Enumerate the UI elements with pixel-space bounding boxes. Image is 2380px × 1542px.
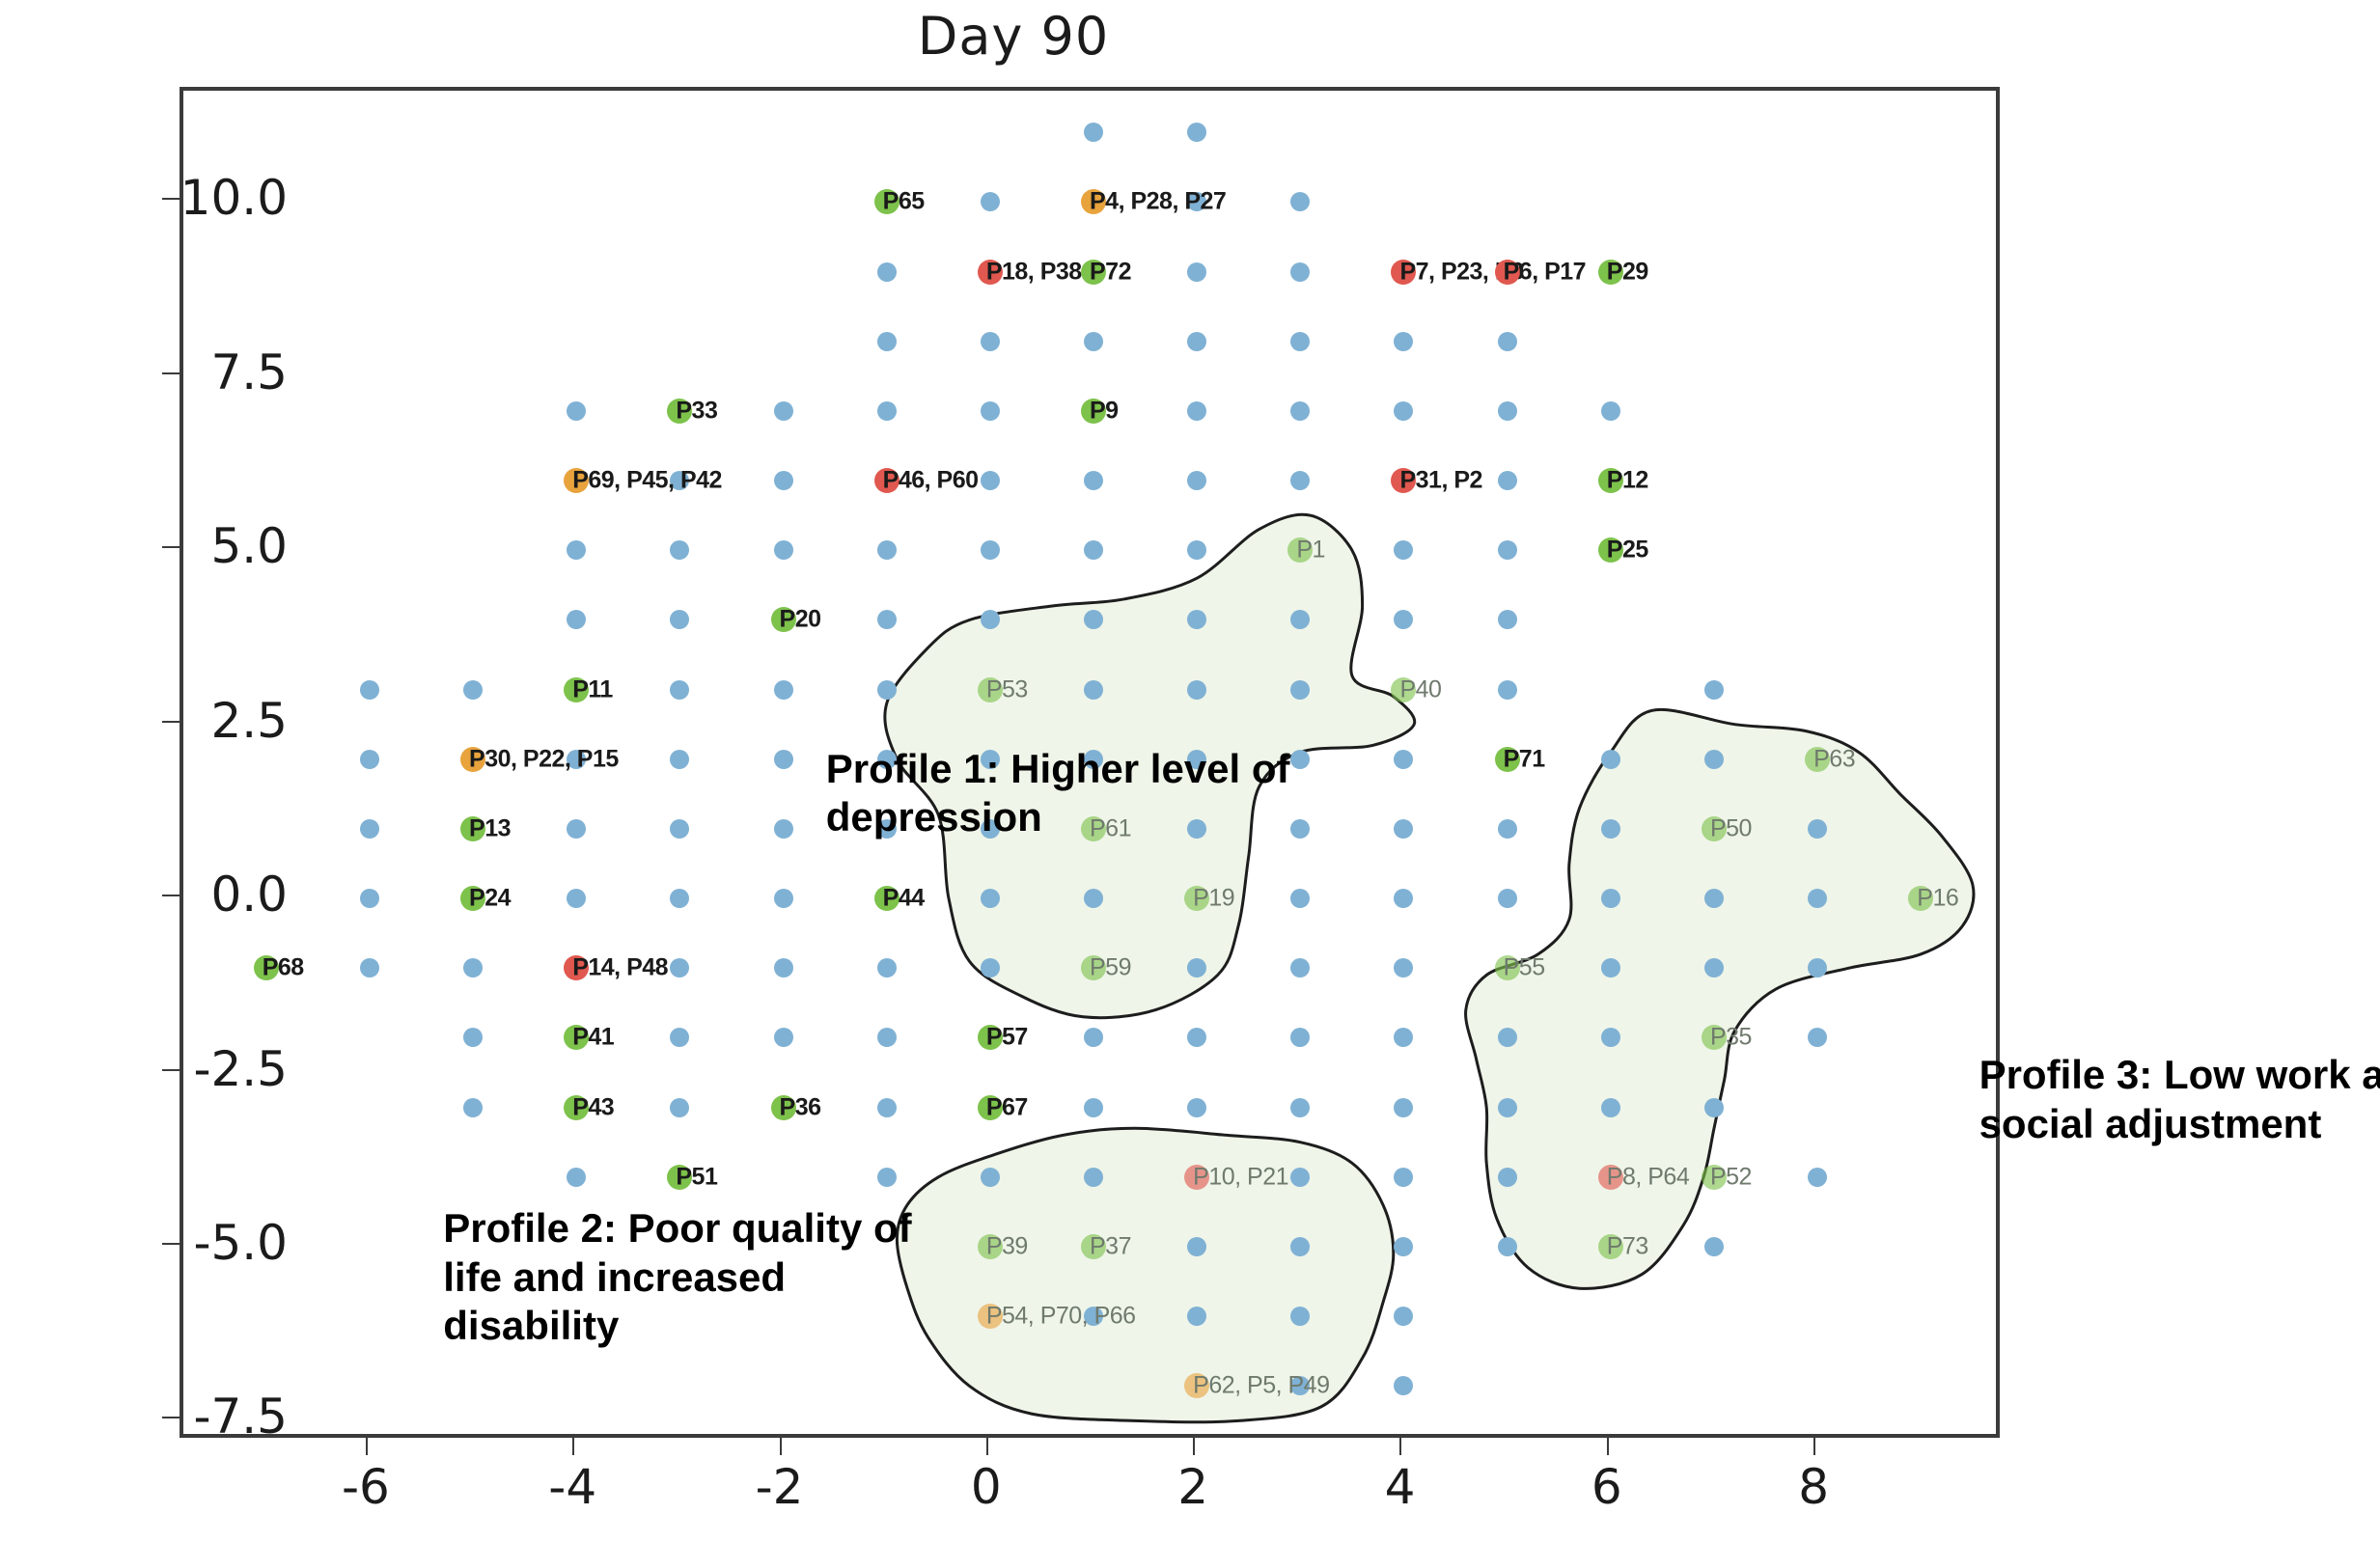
data-point bbox=[1084, 610, 1103, 629]
data-point bbox=[981, 192, 1000, 211]
data-point bbox=[1187, 123, 1206, 142]
data-point bbox=[877, 540, 897, 560]
data-point bbox=[1498, 1028, 1517, 1047]
data-point bbox=[877, 262, 897, 282]
annotation-profile-3: Profile 3: Low work and social adjustmen… bbox=[1979, 1051, 2380, 1148]
data-point bbox=[1394, 750, 1413, 769]
data-point bbox=[1808, 1168, 1827, 1187]
data-point bbox=[360, 819, 379, 839]
figure-root: Day 90 P65P4, P28, P27P18, P38P72P7, P23… bbox=[0, 0, 2380, 1542]
data-point bbox=[774, 750, 793, 769]
annotation-profile-2: Profile 2: Poor quality of life and incr… bbox=[443, 1204, 911, 1350]
data-point bbox=[1394, 1098, 1413, 1117]
data-point bbox=[1084, 123, 1103, 142]
data-point bbox=[670, 889, 689, 908]
point-label: P25 bbox=[1607, 537, 1648, 564]
y-axis-tick-label: -2.5 bbox=[75, 1041, 288, 1097]
point-label: P71 bbox=[1504, 745, 1545, 773]
data-point bbox=[1084, 471, 1103, 490]
data-point bbox=[1290, 1168, 1310, 1187]
data-point bbox=[1290, 332, 1310, 351]
data-point bbox=[981, 889, 1000, 908]
data-point bbox=[463, 680, 483, 700]
data-point bbox=[1290, 610, 1310, 629]
data-point bbox=[1704, 958, 1724, 978]
data-point bbox=[1601, 750, 1620, 769]
data-point bbox=[1084, 1028, 1103, 1047]
data-point bbox=[1498, 680, 1517, 700]
y-axis-tick-label: 5.0 bbox=[75, 518, 288, 574]
data-point bbox=[1187, 610, 1206, 629]
data-point bbox=[463, 1028, 483, 1047]
data-point bbox=[1394, 1307, 1413, 1326]
data-point bbox=[1704, 750, 1724, 769]
point-label: P41 bbox=[572, 1024, 614, 1052]
data-point bbox=[774, 958, 793, 978]
point-label: P29 bbox=[1607, 258, 1648, 286]
data-point bbox=[877, 958, 897, 978]
x-axis-tick bbox=[1193, 1438, 1195, 1455]
y-axis-tick-label: 0.0 bbox=[75, 867, 288, 922]
point-label: P59 bbox=[1090, 954, 1131, 982]
point-label: P31, P2 bbox=[1399, 467, 1481, 495]
data-point bbox=[981, 610, 1000, 629]
data-point bbox=[1290, 1307, 1310, 1326]
data-point bbox=[463, 1098, 483, 1117]
data-point bbox=[877, 610, 897, 629]
data-point bbox=[1498, 540, 1517, 560]
data-point bbox=[1290, 1237, 1310, 1256]
data-point bbox=[1704, 889, 1724, 908]
point-label: P69, P45, P42 bbox=[572, 467, 722, 495]
data-point bbox=[1394, 1237, 1413, 1256]
data-point bbox=[670, 958, 689, 978]
data-point bbox=[1084, 1098, 1103, 1117]
data-point bbox=[1187, 1098, 1206, 1117]
data-point bbox=[877, 680, 897, 700]
point-label: P62, P5, P49 bbox=[1193, 1372, 1329, 1400]
data-point bbox=[1290, 1098, 1310, 1117]
data-point bbox=[774, 1028, 793, 1047]
data-point bbox=[981, 332, 1000, 351]
x-axis-tick-label: 6 bbox=[1591, 1459, 1622, 1515]
data-point bbox=[981, 540, 1000, 560]
data-point bbox=[1187, 471, 1206, 490]
data-point bbox=[1498, 471, 1517, 490]
data-point bbox=[567, 1168, 586, 1187]
x-axis-tick-label: 8 bbox=[1798, 1459, 1829, 1515]
point-label: P33 bbox=[676, 397, 717, 425]
data-point bbox=[1808, 889, 1827, 908]
data-point bbox=[1394, 610, 1413, 629]
x-axis-tick-label: -6 bbox=[342, 1459, 390, 1515]
data-point bbox=[567, 819, 586, 839]
data-point bbox=[877, 1098, 897, 1117]
x-axis-tick bbox=[986, 1438, 988, 1455]
data-point bbox=[1394, 1376, 1413, 1395]
point-label: P46, P60 bbox=[883, 467, 979, 495]
data-point bbox=[774, 540, 793, 560]
data-point bbox=[1187, 1237, 1206, 1256]
point-label: P6, P17 bbox=[1504, 258, 1586, 286]
data-point bbox=[1290, 819, 1310, 839]
x-axis-tick bbox=[1399, 1438, 1401, 1455]
data-point bbox=[1084, 1168, 1103, 1187]
y-axis-tick-label: -5.0 bbox=[75, 1215, 288, 1271]
data-point bbox=[1601, 819, 1620, 839]
data-point bbox=[1187, 1028, 1206, 1047]
data-point bbox=[1084, 540, 1103, 560]
data-point bbox=[1498, 401, 1517, 421]
data-point bbox=[670, 680, 689, 700]
point-label: P19 bbox=[1193, 885, 1234, 913]
data-point bbox=[877, 401, 897, 421]
data-point bbox=[1084, 680, 1103, 700]
data-point bbox=[1498, 332, 1517, 351]
data-point bbox=[1290, 1028, 1310, 1047]
data-point bbox=[670, 540, 689, 560]
y-axis-tick-label: 7.5 bbox=[75, 344, 288, 400]
data-point bbox=[567, 889, 586, 908]
data-point bbox=[1187, 958, 1206, 978]
point-label: P16 bbox=[1917, 885, 1958, 913]
data-point bbox=[1601, 401, 1620, 421]
data-point bbox=[1187, 680, 1206, 700]
data-point bbox=[1394, 1168, 1413, 1187]
data-point bbox=[567, 610, 586, 629]
data-point bbox=[670, 610, 689, 629]
data-point bbox=[1290, 958, 1310, 978]
point-label: P35 bbox=[1710, 1024, 1752, 1052]
data-point bbox=[1084, 889, 1103, 908]
data-point bbox=[1290, 262, 1310, 282]
data-point bbox=[670, 819, 689, 839]
data-point bbox=[1187, 262, 1206, 282]
point-label: P51 bbox=[676, 1163, 717, 1191]
data-point bbox=[981, 401, 1000, 421]
data-point bbox=[567, 401, 586, 421]
data-point bbox=[1601, 1098, 1620, 1117]
data-point bbox=[1704, 1237, 1724, 1256]
data-point bbox=[981, 1168, 1000, 1187]
data-point bbox=[1394, 958, 1413, 978]
data-point bbox=[1394, 889, 1413, 908]
point-label: P55 bbox=[1504, 954, 1545, 982]
data-point bbox=[1498, 1098, 1517, 1117]
point-label: P24 bbox=[469, 885, 511, 913]
point-label: P8, P64 bbox=[1607, 1163, 1689, 1191]
data-point bbox=[1601, 1028, 1620, 1047]
point-label: P13 bbox=[469, 814, 511, 842]
data-point bbox=[774, 401, 793, 421]
data-point bbox=[774, 680, 793, 700]
data-point bbox=[1290, 889, 1310, 908]
data-point bbox=[1704, 680, 1724, 700]
point-label: P43 bbox=[572, 1093, 614, 1121]
data-point bbox=[877, 332, 897, 351]
data-point bbox=[1187, 1307, 1206, 1326]
data-point bbox=[360, 680, 379, 700]
point-label: P30, P22, P15 bbox=[469, 745, 619, 773]
data-point bbox=[1187, 332, 1206, 351]
x-axis-tick bbox=[366, 1438, 368, 1455]
data-point bbox=[774, 471, 793, 490]
page-title: Day 90 bbox=[0, 6, 2027, 67]
y-axis-tick-label: 2.5 bbox=[75, 693, 288, 749]
data-point bbox=[1084, 332, 1103, 351]
data-point bbox=[877, 1168, 897, 1187]
x-axis-tick bbox=[780, 1438, 782, 1455]
data-point bbox=[360, 958, 379, 978]
x-axis-tick bbox=[572, 1438, 574, 1455]
data-point bbox=[670, 750, 689, 769]
point-label: P52 bbox=[1710, 1163, 1752, 1191]
point-label: P1 bbox=[1296, 537, 1325, 564]
data-point bbox=[360, 889, 379, 908]
x-axis-tick-label: -4 bbox=[548, 1459, 596, 1515]
data-point bbox=[1498, 1168, 1517, 1187]
data-point bbox=[1498, 889, 1517, 908]
data-point bbox=[1290, 750, 1310, 769]
point-label: P20 bbox=[780, 606, 821, 634]
data-point bbox=[1601, 889, 1620, 908]
point-label: P12 bbox=[1607, 467, 1648, 495]
point-label: P68 bbox=[263, 954, 304, 982]
y-axis-tick-label: -7.5 bbox=[75, 1389, 288, 1445]
data-point bbox=[1187, 540, 1206, 560]
point-label: P11 bbox=[572, 675, 613, 703]
point-label: P9 bbox=[1090, 397, 1119, 425]
x-axis-tick-label: 2 bbox=[1177, 1459, 1208, 1515]
point-label: P54, P70, P66 bbox=[986, 1303, 1136, 1331]
x-axis-tick-label: -2 bbox=[756, 1459, 804, 1515]
point-label: P63 bbox=[1813, 745, 1855, 773]
point-label: P67 bbox=[986, 1093, 1028, 1121]
data-point bbox=[567, 540, 586, 560]
point-label: P57 bbox=[986, 1024, 1028, 1052]
point-label: P37 bbox=[1090, 1232, 1131, 1260]
point-label: P50 bbox=[1710, 814, 1752, 842]
data-point bbox=[670, 1028, 689, 1047]
data-point bbox=[774, 819, 793, 839]
data-point bbox=[1704, 1098, 1724, 1117]
data-point bbox=[1394, 819, 1413, 839]
data-point bbox=[360, 750, 379, 769]
point-label: P44 bbox=[883, 885, 925, 913]
x-axis-tick bbox=[1813, 1438, 1815, 1455]
point-label: P14, P48 bbox=[572, 954, 668, 982]
data-point bbox=[1187, 401, 1206, 421]
data-point bbox=[1394, 401, 1413, 421]
annotation-profile-1: Profile 1: Higher level of depression bbox=[826, 745, 1290, 842]
point-label: P18, P38 bbox=[986, 258, 1082, 286]
data-point bbox=[1290, 192, 1310, 211]
data-point bbox=[774, 889, 793, 908]
x-axis-tick-label: 4 bbox=[1385, 1459, 1416, 1515]
data-point bbox=[1808, 1028, 1827, 1047]
data-point bbox=[1808, 819, 1827, 839]
data-point bbox=[1290, 471, 1310, 490]
point-label: P4, P28, P27 bbox=[1090, 188, 1226, 216]
data-point bbox=[463, 958, 483, 978]
data-point bbox=[877, 1028, 897, 1047]
data-point bbox=[1498, 819, 1517, 839]
data-point bbox=[1498, 610, 1517, 629]
x-axis-tick-label: 0 bbox=[971, 1459, 1002, 1515]
point-label: P10, P21 bbox=[1193, 1163, 1288, 1191]
point-label: P73 bbox=[1607, 1232, 1648, 1260]
data-point bbox=[981, 958, 1000, 978]
point-label: P36 bbox=[780, 1093, 821, 1121]
data-point bbox=[1290, 680, 1310, 700]
data-point bbox=[981, 471, 1000, 490]
data-point bbox=[1394, 540, 1413, 560]
data-point bbox=[1394, 1028, 1413, 1047]
point-label: P39 bbox=[986, 1232, 1028, 1260]
point-label: P72 bbox=[1090, 258, 1131, 286]
data-point bbox=[670, 1098, 689, 1117]
data-point bbox=[1394, 332, 1413, 351]
point-label: P40 bbox=[1399, 675, 1441, 703]
data-point bbox=[1601, 958, 1620, 978]
data-point bbox=[1290, 401, 1310, 421]
y-axis-tick-label: 10.0 bbox=[75, 170, 288, 226]
data-point bbox=[1808, 958, 1827, 978]
point-label: P53 bbox=[986, 675, 1028, 703]
x-axis-tick bbox=[1607, 1438, 1609, 1455]
data-point bbox=[1498, 1237, 1517, 1256]
point-label: P65 bbox=[883, 188, 925, 216]
